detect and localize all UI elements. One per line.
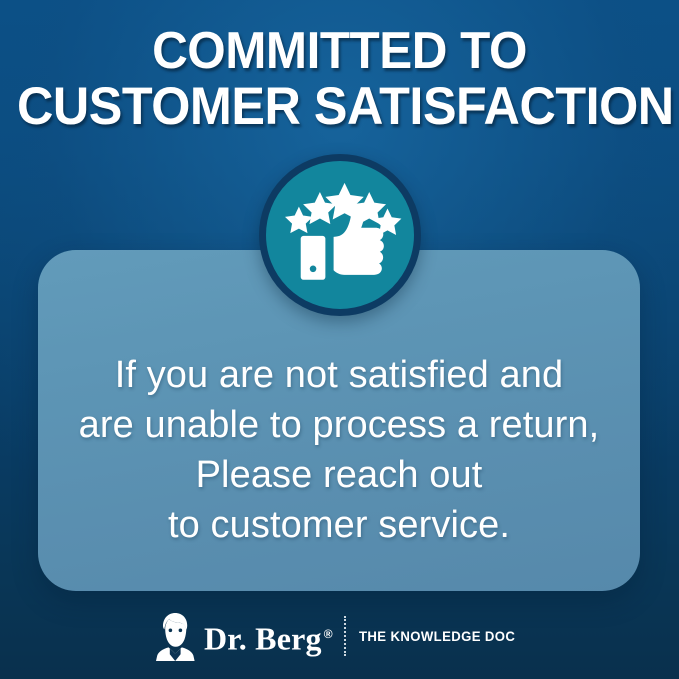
brand-name-text: Dr. Berg (204, 620, 322, 656)
message-line-3: Please reach out (38, 450, 640, 500)
promo-poster: COMMITTED TO CUSTOMER SATISFACTION If yo… (0, 0, 679, 679)
page-title-line-1: COMMITTED TO (17, 24, 662, 79)
footer-divider (344, 616, 346, 656)
brand-tagline: THE KNOWLEDGE DOC (359, 628, 515, 644)
registered-trademark-icon: ® (324, 627, 333, 641)
page-title: COMMITTED TO CUSTOMER SATISFACTION (17, 24, 662, 134)
thumbs-up-five-stars-icon (266, 161, 414, 309)
message-line-1: If you are not satisfied and (38, 350, 640, 400)
message-line-4: to customer service. (38, 500, 640, 550)
message-line-2: are unable to process a return, (38, 400, 640, 450)
brand-name: Dr. Berg® (204, 618, 333, 655)
dr-berg-portrait-icon (154, 611, 196, 661)
satisfaction-badge (259, 154, 421, 316)
page-title-line-2: CUSTOMER SATISFACTION (17, 79, 662, 134)
brand-footer: Dr. Berg® THE KNOWLEDGE DOC (0, 606, 679, 666)
message-body: If you are not satisfied and are unable … (38, 350, 640, 550)
